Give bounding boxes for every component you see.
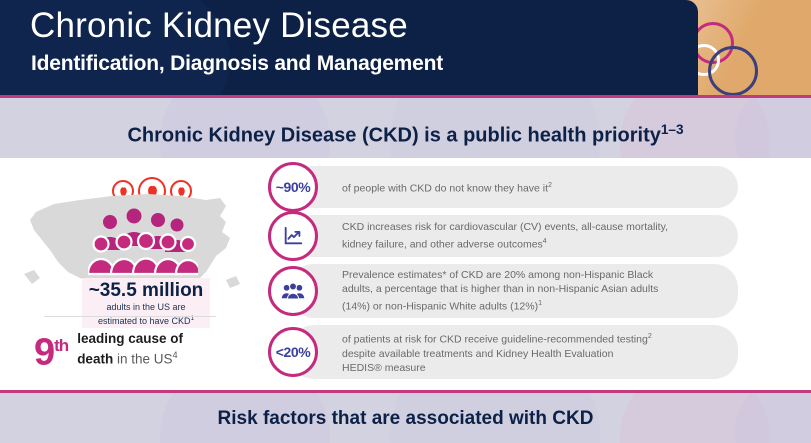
fact-text: of people with CKD do not know they have… [342,178,552,196]
priority-banner-text: Chronic Kidney Disease (CKD) is a public… [127,125,660,147]
page-title: Chronic Kidney Disease [30,6,408,46]
percent-less-20-badge: <20% [268,327,318,377]
people-crowd-graphic [88,206,198,284]
fact-row: of people with CKD do not know they have… [268,166,748,208]
mortality-rank-line2-bold: death [77,351,113,366]
fact-pill: CKD increases risk for cardiovascular (C… [290,215,738,257]
percent-less-20-label: <20% [276,344,311,360]
prevalence-stat-callout: ~35.5 million adults in the US are estim… [82,278,210,328]
percent-90-label: ~90% [276,179,311,195]
risk-factors-banner: Risk factors that are associated with CK… [0,390,811,443]
fact-line: of patients at risk for CKD receive guid… [342,334,648,346]
priority-banner-title: Chronic Kidney Disease (CKD) is a public… [0,98,811,161]
left-panel-divider [44,316,216,317]
page-header: Chronic Kidney Disease Identification, D… [0,0,811,95]
fact-superscript: 2 [548,181,552,189]
fact-line: despite available treatments and Kidney … [342,348,613,360]
fact-text: of patients at risk for CKD receive guid… [342,329,652,375]
fact-row: of patients at risk for CKD receive guid… [268,325,748,379]
fact-pill: of patients at risk for CKD receive guid… [290,325,738,379]
priority-banner: Chronic Kidney Disease (CKD) is a public… [0,95,811,161]
fact-line: (14%) or non-Hispanic White adults (12%) [342,301,538,313]
mortality-rank-value: 9 [34,331,54,373]
rising-chart-icon [268,211,318,261]
mortality-rank-block: 9th leading cause of death in the US4 [34,326,254,372]
fact-line: CKD increases risk for cardiovascular (C… [342,221,668,233]
fact-superscript: 4 [543,237,547,245]
priority-banner-superscript: 1–3 [661,122,684,137]
fact-text: CKD increases risk for cardiovascular (C… [342,220,668,252]
risk-factors-banner-title: Risk factors that are associated with CK… [0,393,811,443]
ring-navy-icon [708,46,758,95]
mortality-rank-number: 9th [34,327,68,372]
fact-line: adults, a percentage that is higher than… [342,283,658,295]
key-facts-list: of people with CKD do not know they have… [268,166,748,386]
mortality-rank-ordinal: th [54,336,68,355]
photo-frame-edge [686,0,698,95]
mortality-rank-line2-rest: in the US [113,351,172,366]
mortality-rank-superscript: 4 [172,350,177,360]
mortality-rank-line1: leading cause of [77,331,183,346]
kidney-anatomy-photo [686,0,811,95]
fact-pill: of people with CKD do not know they have… [290,166,738,208]
fact-row: CKD increases risk for cardiovascular (C… [268,215,748,257]
percent-90-badge: ~90% [268,162,318,212]
fact-text: Prevalence estimates* of CKD are 20% amo… [342,268,658,314]
fact-superscript: 1 [538,299,542,307]
fact-line: kidney failure, and other adverse outcom… [342,239,543,251]
fact-row: Prevalence estimates* of CKD are 20% amo… [268,264,748,318]
fact-line: HEDIS® measure [342,362,426,374]
people-group-icon [268,266,318,316]
prevalence-stat-line1: adults in the US are [82,302,210,313]
mortality-rank-text: leading cause of death in the US4 [77,331,183,368]
fact-line: Prevalence estimates* of CKD are 20% amo… [342,269,653,281]
prevalence-stat-value: ~35.5 million [82,280,210,302]
page-subtitle: Identification, Diagnosis and Management [31,52,443,76]
prevalence-stat-line2-text: estimated to have CKD [98,316,191,326]
fact-pill: Prevalence estimates* of CKD are 20% amo… [290,264,738,318]
main-content: ~35.5 million adults in the US are estim… [0,158,811,390]
fact-line: of people with CKD do not know they have… [342,183,548,195]
fact-superscript: 2 [648,332,652,340]
left-statistics-panel: ~35.5 million adults in the US are estim… [0,158,262,390]
